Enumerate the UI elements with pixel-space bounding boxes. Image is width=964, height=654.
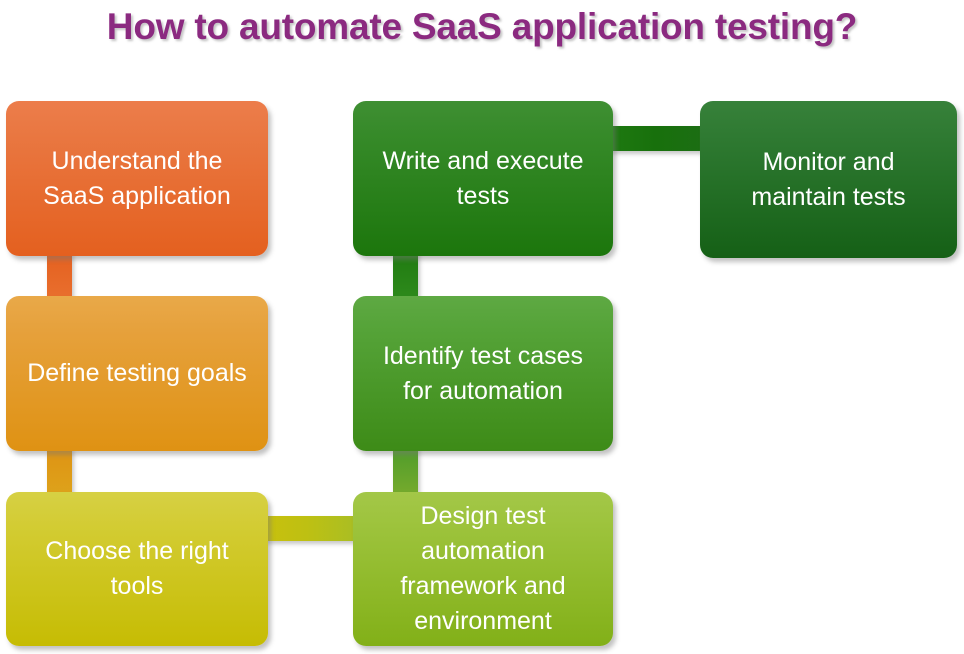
connector-understand-to-goals <box>47 250 72 300</box>
flow-node-define-testing-goals[interactable]: Define testing goals <box>6 296 268 451</box>
flow-node-choose-the-right-tools[interactable]: Choose the right tools <box>6 492 268 646</box>
connector-write-to-monitor <box>607 126 705 151</box>
connector-identify-to-design <box>393 445 418 497</box>
connector-write-to-identify <box>393 250 418 300</box>
flow-node-design-test-automation-framework[interactable]: Design test automation framework and env… <box>353 492 613 646</box>
flow-node-label: Design test automation framework and env… <box>367 499 599 639</box>
flow-node-identify-test-cases[interactable]: Identify test cases for automation <box>353 296 613 451</box>
flow-node-label: Identify test cases for automation <box>367 339 599 409</box>
flow-node-label: Monitor and maintain tests <box>714 145 943 215</box>
page-title: How to automate SaaS application testing… <box>0 6 964 48</box>
flow-node-label: Define testing goals <box>20 356 254 391</box>
diagram-canvas: How to automate SaaS application testing… <box>0 0 964 654</box>
flow-node-label: Understand the SaaS application <box>20 144 254 214</box>
flow-node-label: Write and execute tests <box>367 144 599 214</box>
flow-node-understand-saas-application[interactable]: Understand the SaaS application <box>6 101 268 256</box>
connector-goals-to-tools <box>47 445 72 497</box>
flow-node-monitor-and-maintain-tests[interactable]: Monitor and maintain tests <box>700 101 957 258</box>
flow-node-write-and-execute-tests[interactable]: Write and execute tests <box>353 101 613 256</box>
connector-tools-to-design <box>262 516 360 541</box>
flow-node-label: Choose the right tools <box>20 534 254 604</box>
